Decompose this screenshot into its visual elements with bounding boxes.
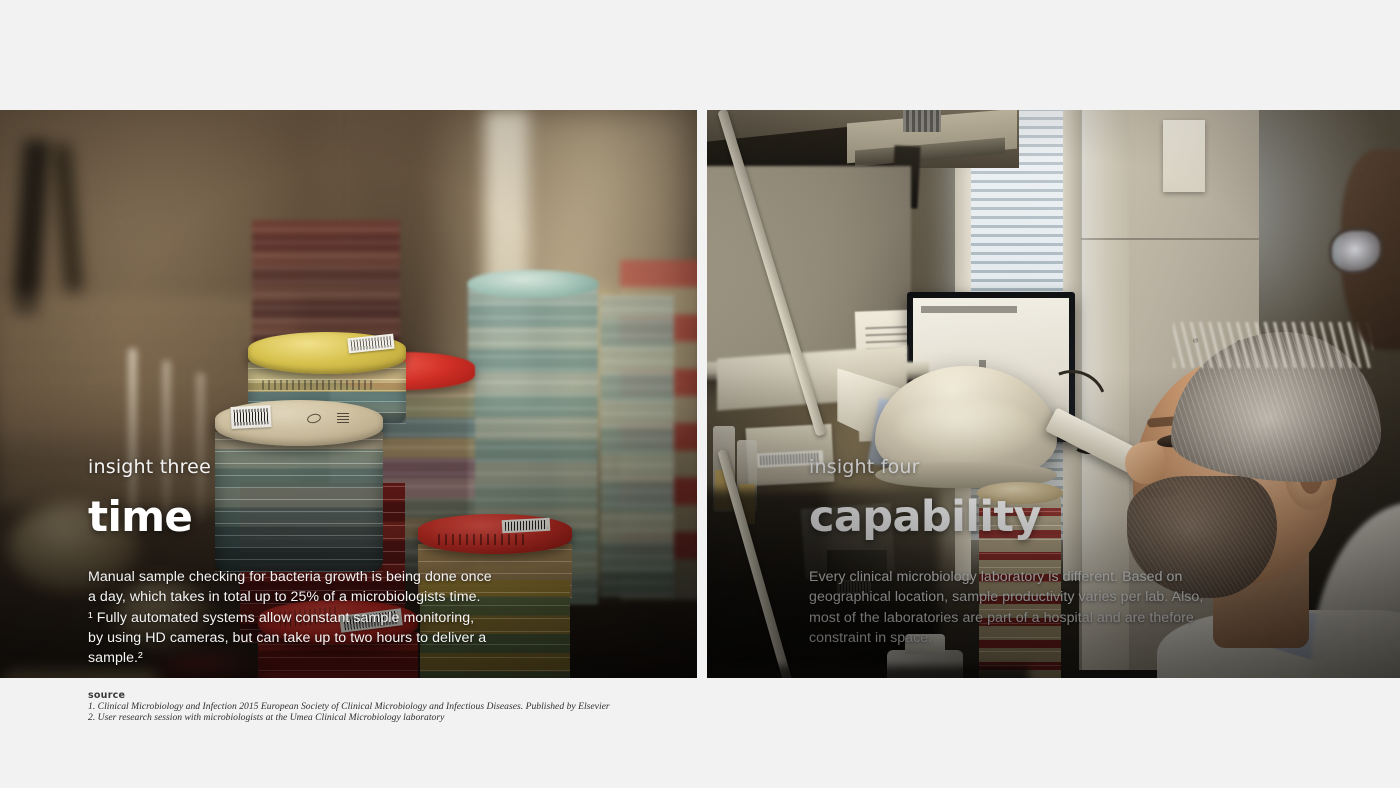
barcode-label-icon [230,405,271,429]
body-line: a day, which takes in total up to 25% of… [88,589,481,605]
insight-panel-time[interactable]: insight three time Manual sample checkin… [0,110,697,678]
body-line: sample.² [88,650,143,666]
dark-bench-foreground [707,666,1029,678]
handwritten-label [262,380,372,390]
petri-dish-cream-agar [215,400,383,446]
body-line: most of the laboratories are part of a h… [809,610,1194,626]
handwritten-mark [306,412,322,424]
panel-divider [697,110,707,678]
source-citation: 2. User research session with microbiolo… [88,712,888,723]
body-line: Every clinical microbiology laboratory i… [809,569,1182,585]
petri-stack-far-teal [600,296,674,596]
barcode-label-icon [347,334,394,354]
body-line: ¹ Fully automated systems allow constant… [88,610,474,626]
source-citation: 1. Clinical Microbiology and Infection 2… [88,701,888,712]
caption-block: insight four capability Every clinical m… [809,458,1239,648]
slide-canvas: insight three time Manual sample checkin… [0,0,1400,788]
insight-headline: time [88,496,518,538]
lamp-arm [717,110,826,437]
body-line: geographical location, sample productivi… [809,589,1203,605]
blurred-plate-b [0,670,160,678]
wall-paper-note [1163,120,1205,192]
insight-kicker: insight four [809,458,1239,477]
lamp-lens [897,400,1035,458]
panels-row: insight three time Manual sample checkin… [0,110,1400,678]
caption-block: insight three time Manual sample checkin… [88,458,518,668]
insight-body: Every clinical microbiology laboratory i… [809,567,1239,648]
body-line: by using HD cameras, but can take up to … [88,630,486,646]
source-footer: source 1. Clinical Microbiology and Infe… [88,690,888,724]
body-line: Manual sample checking for bacteria grow… [88,569,492,585]
petri-dish-yellow-agar [248,332,406,374]
source-label: source [88,690,888,701]
handwritten-mark-2 [337,412,349,423]
insight-panel-capability[interactable]: insight four capability Every clinical m… [707,110,1400,678]
cabinet-seam [1079,238,1259,240]
hair-highlights [1173,322,1373,368]
insight-kicker: insight three [88,458,518,477]
insight-headline: capability [809,496,1239,539]
insight-body: Manual sample checking for bacteria grow… [88,567,518,668]
petri-stack-teal-lid [468,270,598,298]
body-line: constraint in space. [809,630,932,646]
